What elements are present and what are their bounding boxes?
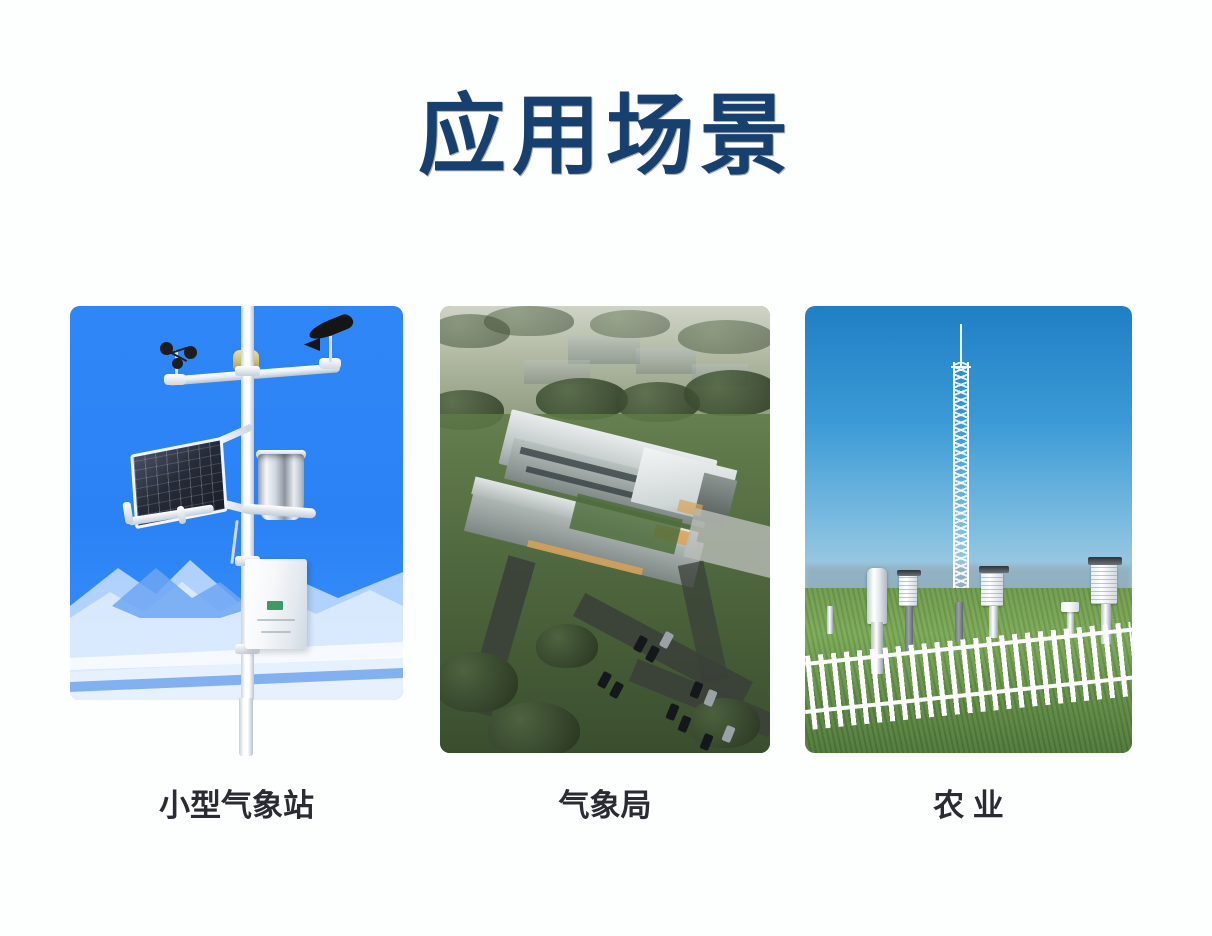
foreground-tree-1 <box>536 624 598 668</box>
solar-leg-left <box>122 502 133 525</box>
mast-upper <box>241 306 254 361</box>
sensor-post-left <box>827 606 833 634</box>
arm-cap-left <box>164 374 186 385</box>
control-box <box>245 559 307 649</box>
meteorological-bureau-aerial-image <box>440 306 770 753</box>
tree-cluster-4 <box>678 320 770 354</box>
stevenson-screen-2 <box>981 572 1003 606</box>
control-box-text-line-2 <box>261 631 291 633</box>
scenario-card-row: 小型气象站 <box>0 0 1212 936</box>
tower-edge-left <box>953 362 955 594</box>
control-box-logo-icon <box>267 601 283 610</box>
tower-sensor-arm <box>951 366 971 368</box>
mast-collar-top <box>235 366 260 376</box>
small-instrument-box <box>1061 602 1079 612</box>
anemometer-cup-2 <box>184 346 197 359</box>
weather-station-illustration <box>70 306 403 700</box>
card-caption-weather-station: 小型气象站 <box>70 786 403 826</box>
screen-louvers-2 <box>981 572 1003 606</box>
screen-post-2 <box>989 606 998 638</box>
stevenson-screen-1 <box>899 574 917 606</box>
tree-cluster-2 <box>484 306 574 336</box>
sensor-post-center <box>955 602 963 642</box>
screen-roof-2 <box>979 566 1009 573</box>
wind-vane-tail <box>304 338 320 351</box>
foreground-tree-2 <box>440 652 518 712</box>
foreground-tree-3 <box>488 702 580 753</box>
weather-station-rig <box>70 306 403 700</box>
rain-gauge-cylinder <box>867 568 887 624</box>
mast-pole-overflow <box>239 698 253 756</box>
screen-louvers-3 <box>1091 564 1117 604</box>
tower-lightning-rod <box>960 324 962 366</box>
aerial-scene <box>440 306 770 753</box>
stevenson-screen-3 <box>1091 564 1117 604</box>
card-caption-agriculture: 农 业 <box>805 786 1132 826</box>
slide-root: 应用场景 <box>0 0 1212 936</box>
wind-vane-stem <box>329 336 332 362</box>
background-building-2 <box>636 348 696 374</box>
agriculture-field-photo <box>805 306 1132 753</box>
control-box-text-line-1 <box>257 619 295 621</box>
screen-roof-1 <box>897 570 921 576</box>
agriculture-scene <box>805 306 1132 753</box>
anemometer-cup-3 <box>172 358 183 369</box>
card-caption-meteorological-bureau: 气象局 <box>440 786 770 826</box>
screen-louvers-1 <box>899 574 917 606</box>
screen-roof-3 <box>1088 557 1122 565</box>
tower-edge-right <box>967 362 969 594</box>
anemometer-cup-1 <box>160 342 173 355</box>
tree-cluster-3 <box>590 310 670 338</box>
tree-cluster-7 <box>684 370 770 416</box>
